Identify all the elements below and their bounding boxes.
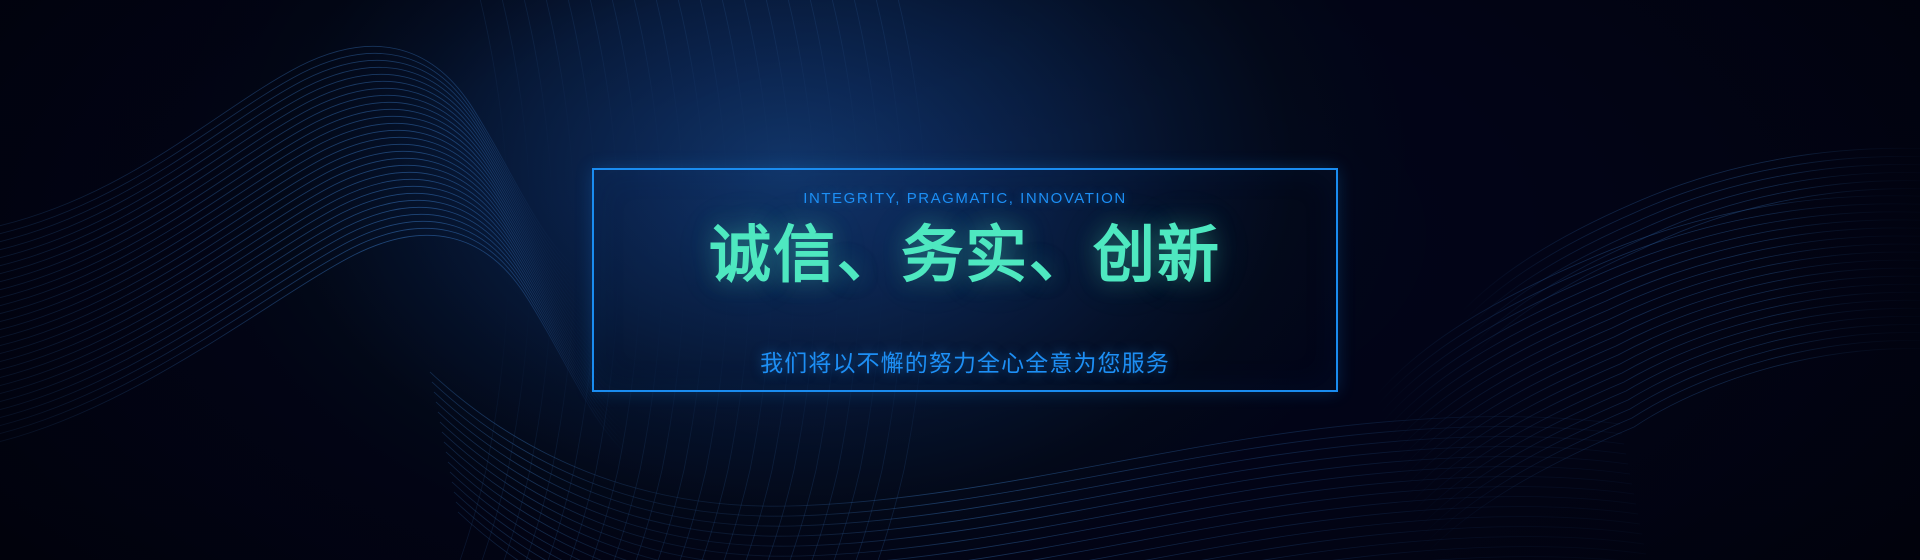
hero-banner: INTEGRITY, PRAGMATIC, INNOVATION 诚信、务实、创… <box>0 0 1920 560</box>
slogan-content: INTEGRITY, PRAGMATIC, INNOVATION 诚信、务实、创… <box>594 170 1336 390</box>
headline-title: 诚信、务实、创新 <box>709 223 1221 288</box>
subtitle-text: 我们将以不懈的努力全心全意为您服务 <box>760 352 1170 375</box>
slogan-frame: INTEGRITY, PRAGMATIC, INNOVATION 诚信、务实、创… <box>592 168 1338 392</box>
eyebrow-tagline: INTEGRITY, PRAGMATIC, INNOVATION <box>803 191 1127 206</box>
